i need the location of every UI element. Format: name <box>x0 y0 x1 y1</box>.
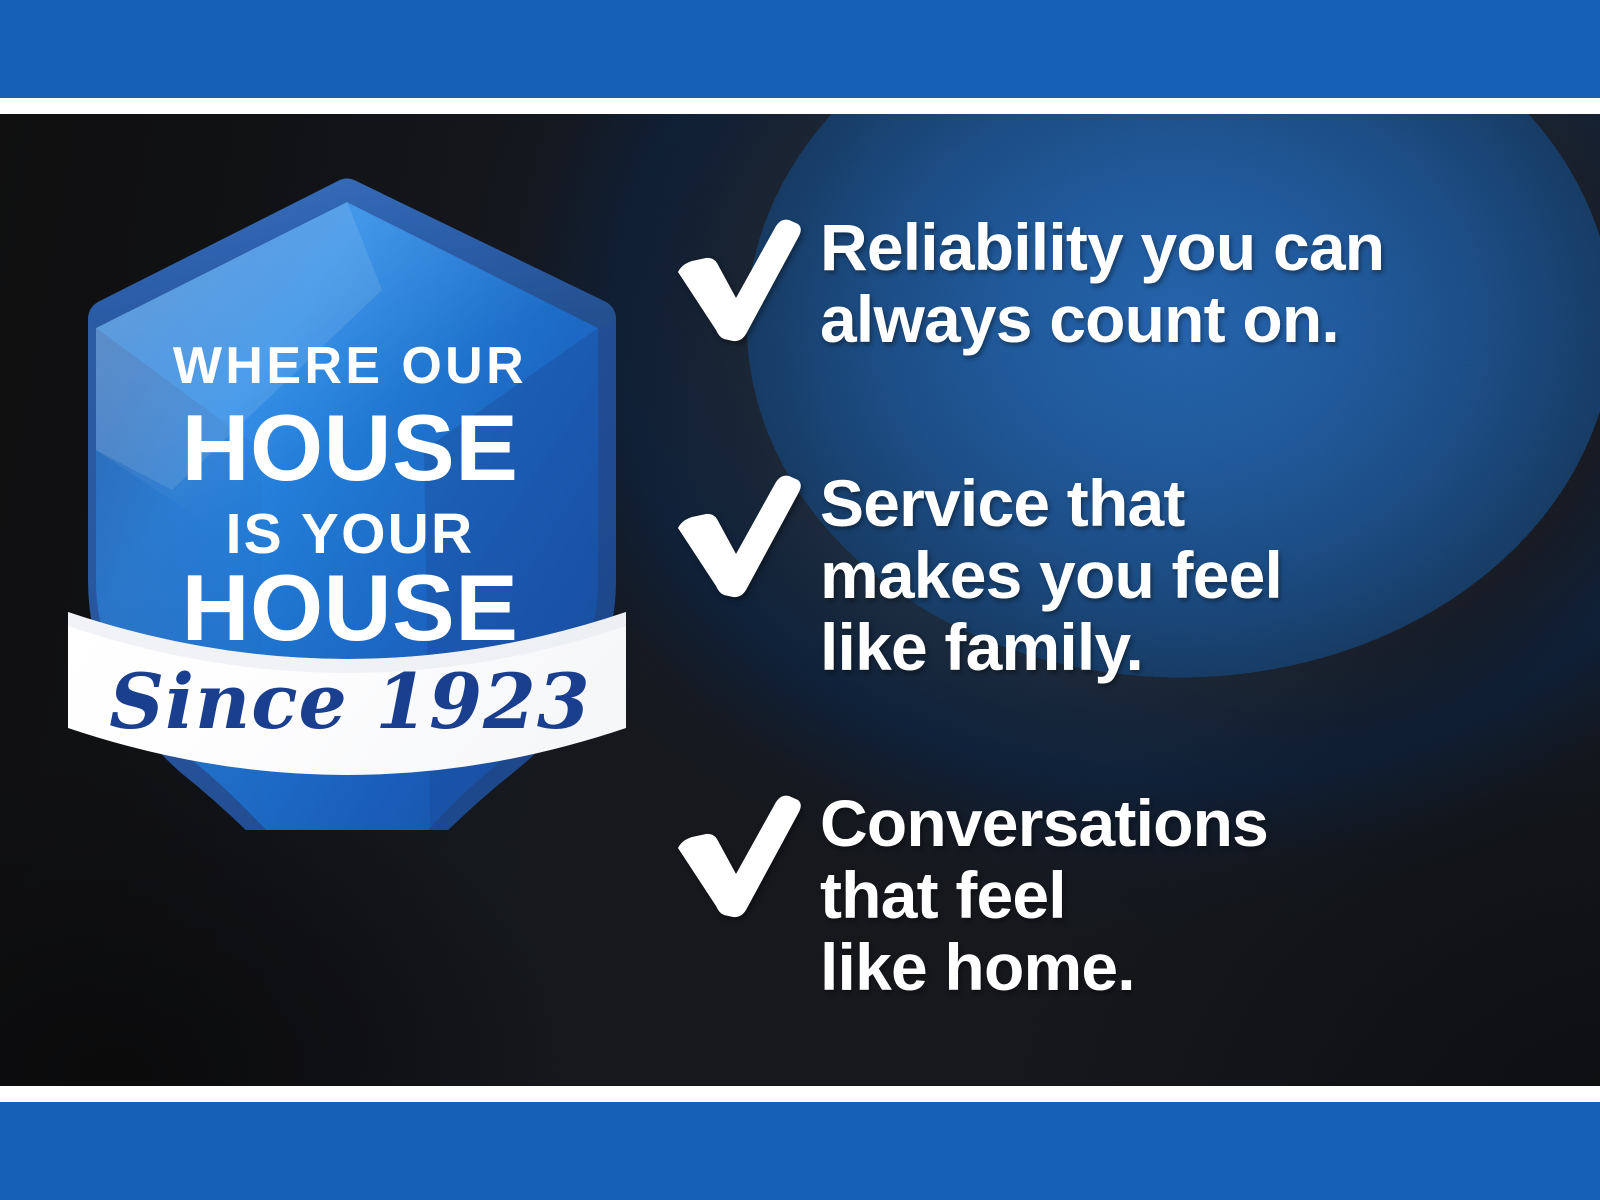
benefit-item-1: Reliability you canalways count on. <box>672 212 1572 356</box>
checkmark-icon <box>672 216 804 342</box>
bottom-white-separator <box>0 1086 1600 1102</box>
benefits-list: Reliability you canalways count on. Serv… <box>672 128 1572 1072</box>
checkmark-icon <box>672 792 804 918</box>
top-accent-bar <box>0 0 1600 98</box>
shield-line-1: WHERE OUR <box>173 337 527 395</box>
benefit-text-3: Conversationsthat feellike home. <box>820 788 1572 1004</box>
promotional-poster: WHERE OUR HOUSE IS YOUR HOUSE Since 1923… <box>0 0 1600 1200</box>
shield-line-2: HOUSE <box>182 395 519 500</box>
bottom-accent-bar <box>0 1102 1600 1200</box>
benefit-text-2: Service thatmakes you feellike family. <box>820 468 1572 684</box>
top-white-separator <box>0 98 1600 114</box>
benefit-item-2: Service thatmakes you feellike family. <box>672 468 1572 684</box>
banner-since-text: Since 1923 <box>109 657 591 746</box>
checkmark-icon <box>672 472 804 598</box>
shield-emblem: WHERE OUR HOUSE IS YOUR HOUSE Since 1923 <box>52 150 642 830</box>
shield-line-4: HOUSE <box>182 555 519 660</box>
benefit-item-3: Conversationsthat feellike home. <box>672 788 1572 1004</box>
benefit-text-1: Reliability you canalways count on. <box>820 212 1572 356</box>
